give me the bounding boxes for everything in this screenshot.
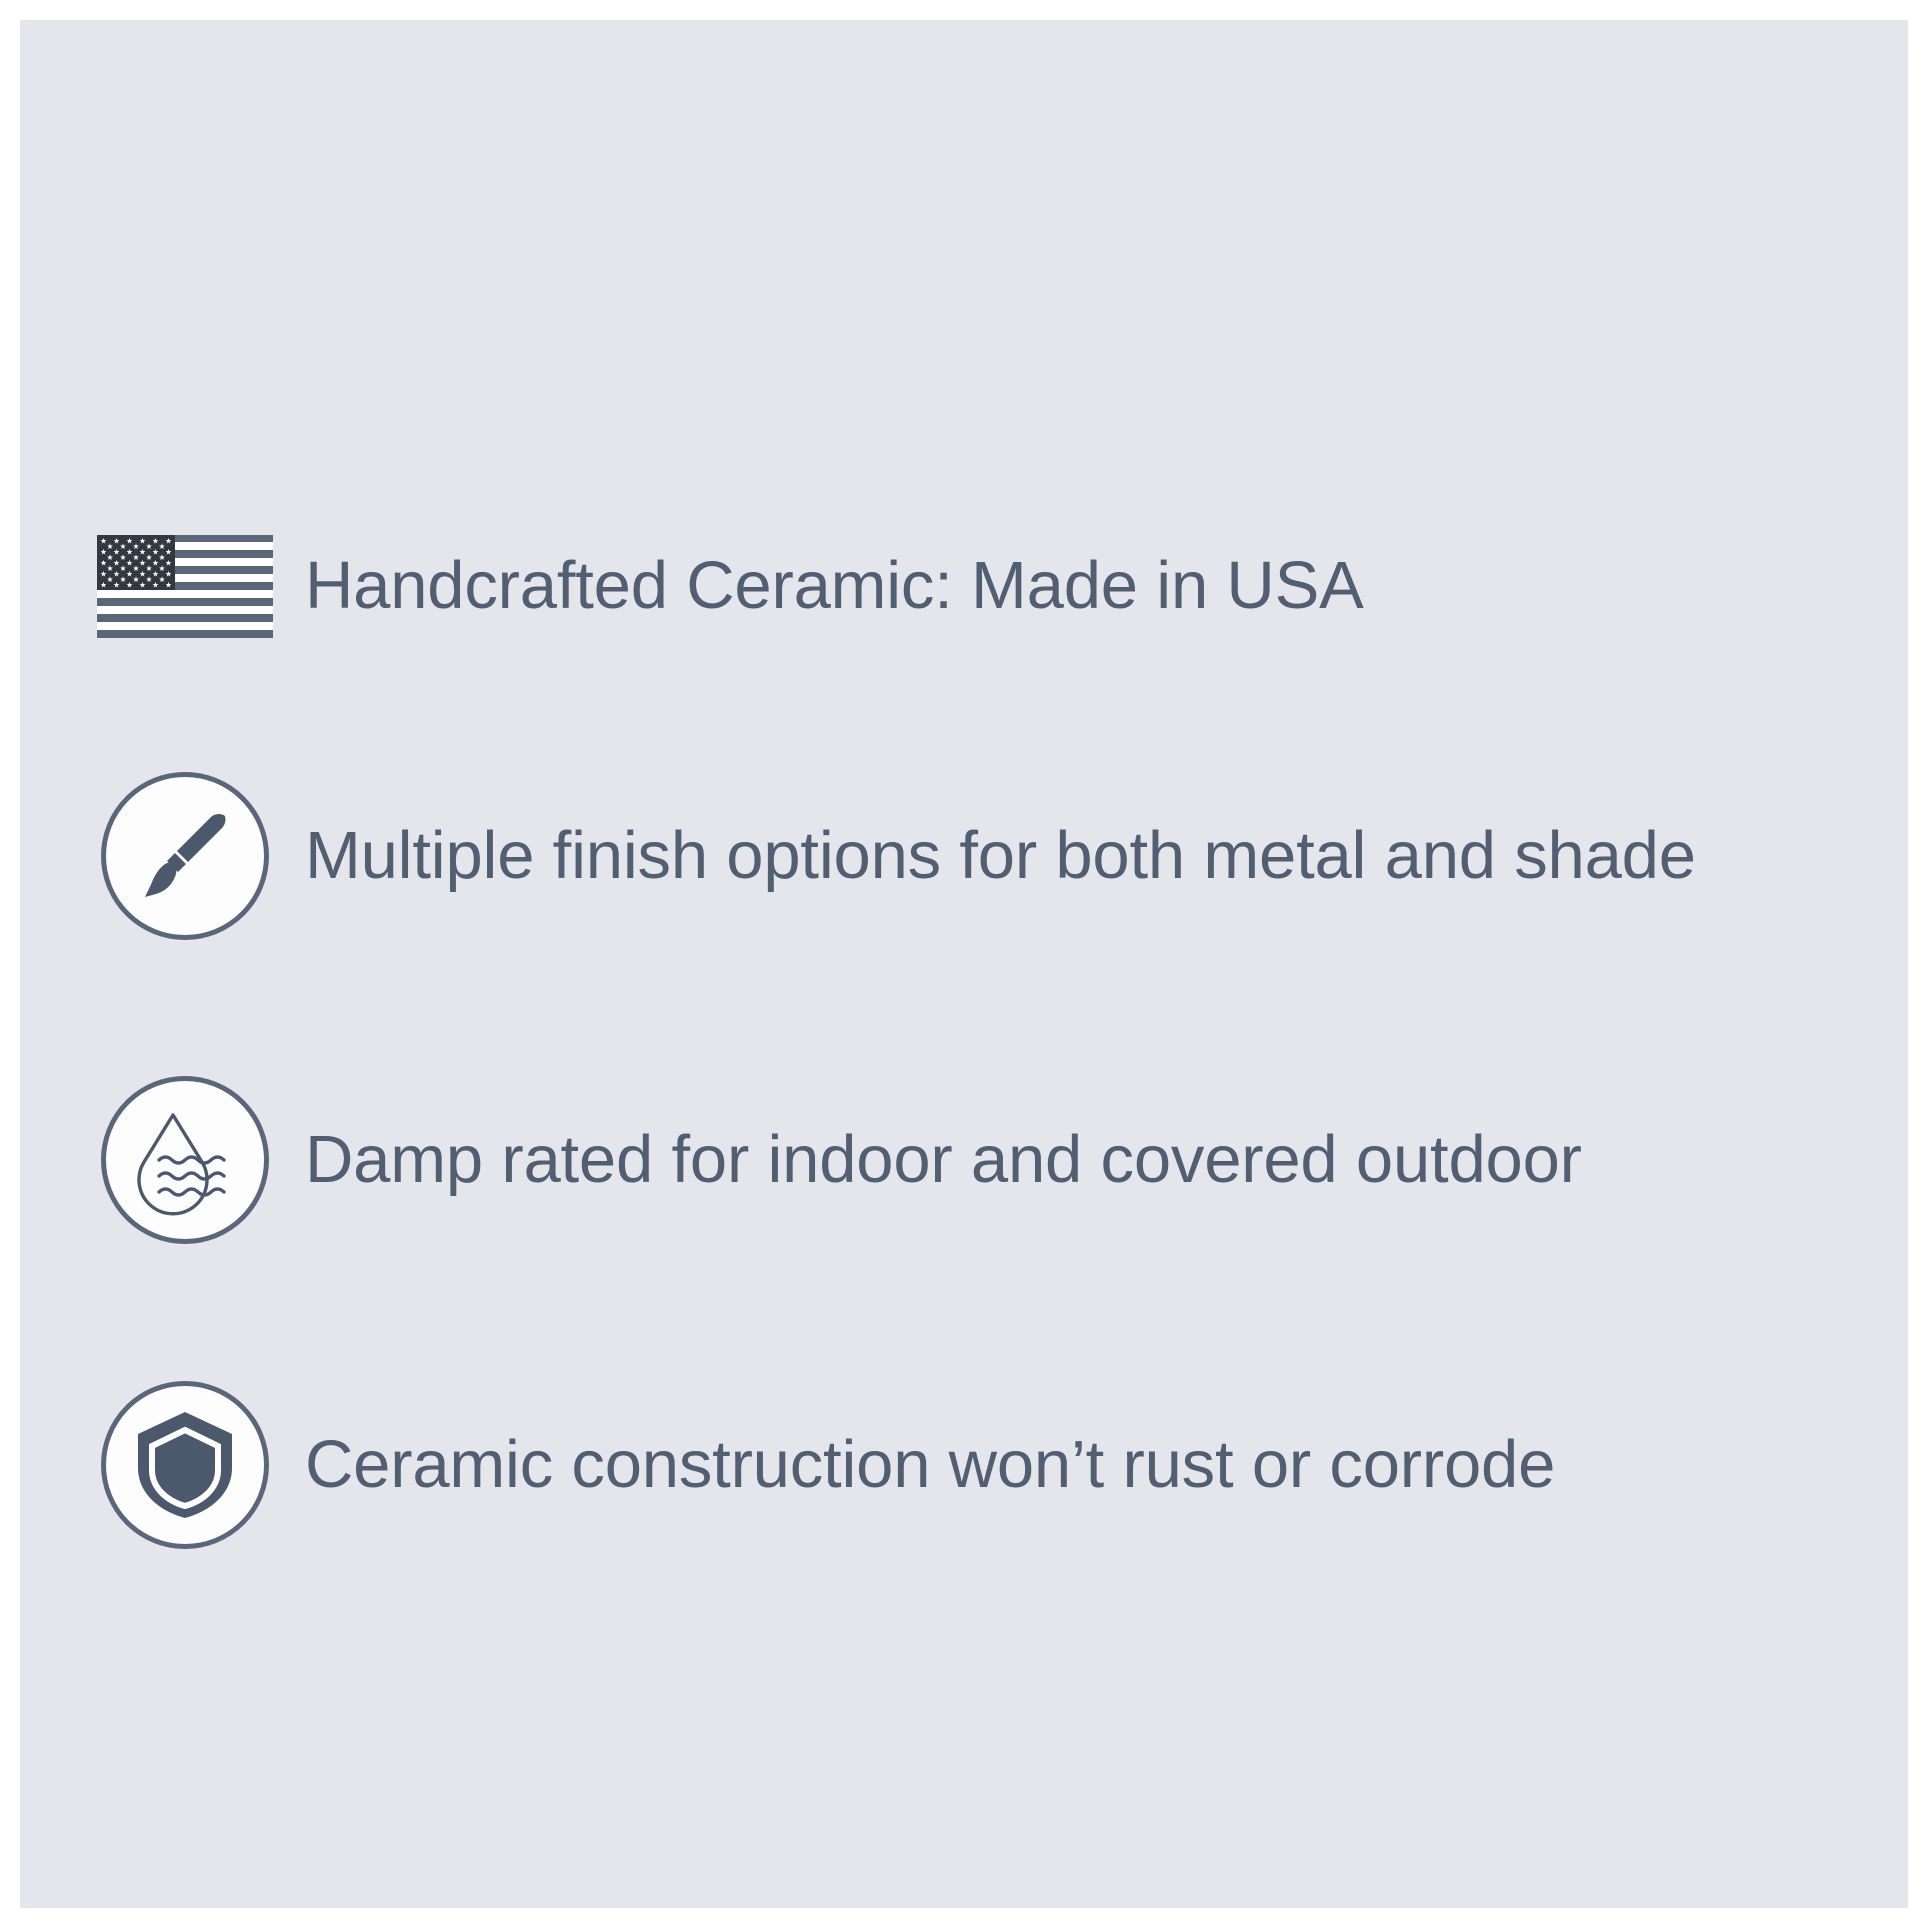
feature-text: Ceramic construction won’t rust or corro… [305, 1430, 1555, 1500]
icon-badge [101, 772, 269, 940]
paintbrush-icon [133, 804, 237, 908]
feature-row: Damp rated for indoor and covered outdoo… [90, 1060, 1890, 1260]
feature-list: Handcrafted Ceramic: Made in USA [20, 20, 1908, 1908]
icon-badge [101, 1381, 269, 1549]
icon-slot [90, 756, 280, 956]
feature-row: Handcrafted Ceramic: Made in USA [90, 486, 1890, 686]
flag-canton [97, 535, 175, 590]
icon-badge [101, 1076, 269, 1244]
water-droplet-icon [129, 1104, 241, 1216]
feature-row: Multiple finish options for both metal a… [90, 756, 1890, 956]
feature-text: Multiple finish options for both metal a… [305, 821, 1696, 891]
shield-icon [133, 1409, 237, 1521]
feature-panel: Handcrafted Ceramic: Made in USA [20, 20, 1908, 1908]
icon-slot [90, 486, 280, 686]
icon-slot [90, 1365, 280, 1565]
feature-row: Ceramic construction won’t rust or corro… [90, 1365, 1890, 1565]
feature-text: Damp rated for indoor and covered outdoo… [305, 1125, 1582, 1195]
usa-flag-icon [97, 535, 273, 638]
icon-slot [90, 1060, 280, 1260]
feature-text: Handcrafted Ceramic: Made in USA [305, 551, 1364, 621]
